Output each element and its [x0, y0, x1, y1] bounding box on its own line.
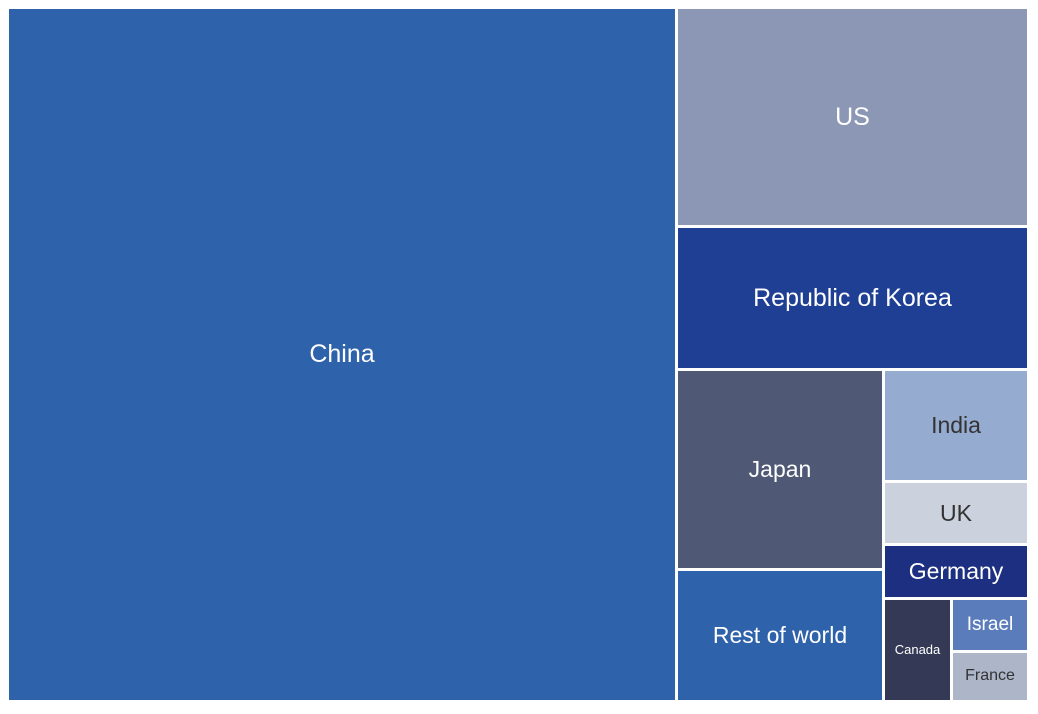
treemap-tile-rest-of-world[interactable]: Rest of world — [678, 571, 882, 700]
treemap-tile-label: Canada — [893, 643, 943, 657]
treemap-tile-us[interactable]: US — [678, 9, 1027, 225]
treemap-tile-uk[interactable]: UK — [885, 483, 1027, 543]
treemap-chart: China US Republic of Korea Japan Rest of… — [0, 0, 1038, 714]
treemap-tile-label: Japan — [747, 457, 814, 481]
treemap-tile-france[interactable]: France — [953, 653, 1027, 700]
treemap-tile-label: UK — [938, 501, 974, 525]
treemap-tile-label: Germany — [907, 559, 1006, 583]
treemap-tile-israel[interactable]: Israel — [953, 600, 1027, 650]
treemap-tile-label: China — [307, 341, 376, 367]
treemap-tile-label: Republic of Korea — [751, 285, 954, 311]
treemap-tile-germany[interactable]: Germany — [885, 546, 1027, 597]
treemap-tile-label: France — [963, 668, 1017, 685]
treemap-tile-republic-of-korea[interactable]: Republic of Korea — [678, 228, 1027, 368]
treemap-tile-japan[interactable]: Japan — [678, 371, 882, 568]
treemap-tile-label: Israel — [965, 615, 1015, 635]
treemap-tile-china[interactable]: China — [9, 9, 675, 700]
treemap-tile-canada[interactable]: Canada — [885, 600, 950, 700]
treemap-tile-label: US — [833, 104, 872, 130]
treemap-tile-india[interactable]: India — [885, 371, 1027, 480]
treemap-tile-label: Rest of world — [711, 623, 849, 647]
treemap-tile-label: India — [929, 413, 983, 437]
